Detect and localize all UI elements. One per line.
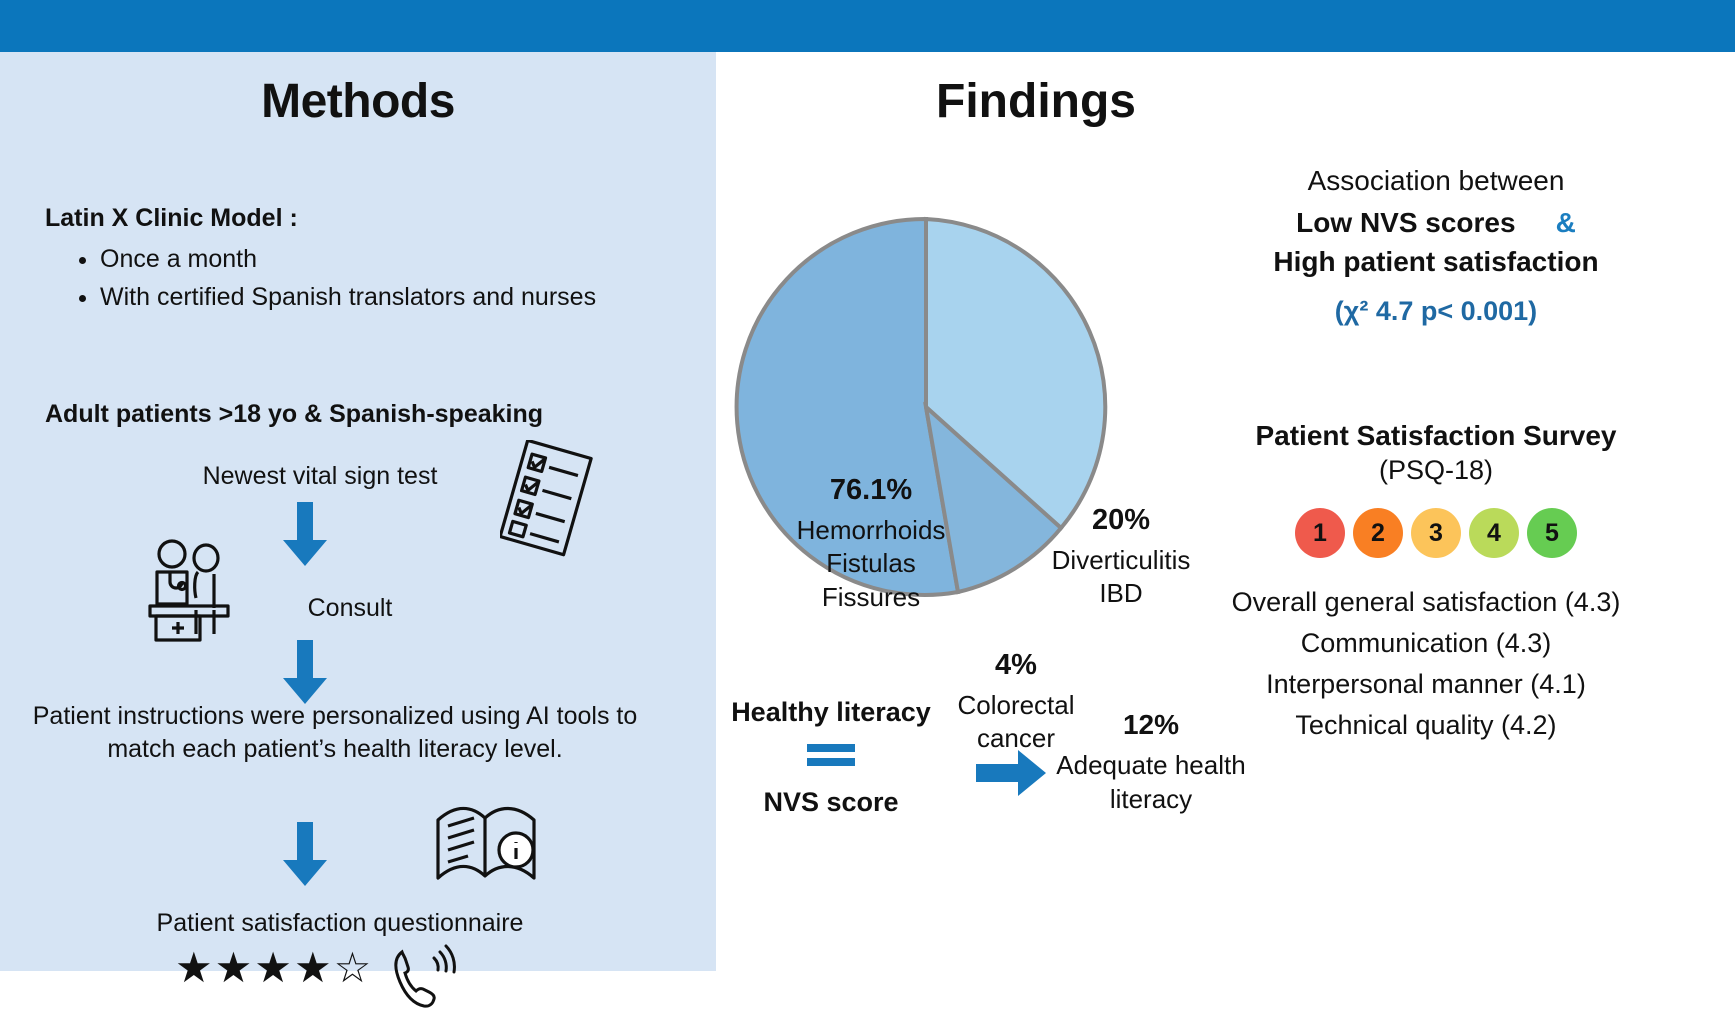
literacy-term-bottom: NVS score [676,787,986,818]
list-item: With certified Spanish translators and n… [100,280,700,316]
phone-call-icon [390,942,456,1017]
list-item: Overall general satisfaction (4.3) [1106,582,1735,623]
psq-rating-4[interactable]: 4 [1469,508,1519,558]
list-item: Technical quality (4.2) [1106,705,1735,746]
findings-panel: Findings 76.1% Hemorrhoids Fistulas Fiss… [716,52,1735,971]
list-item: Once a month [100,242,700,278]
association-line-2: Low NVS scores& [1136,204,1735,242]
list-item: Communication (4.3) [1106,623,1735,664]
association-low-nvs-text: Low NVS scores [1296,207,1515,238]
arrow-down-icon [282,502,328,573]
poster-root: Methods Latin X Clinic Model : Once a mo… [0,0,1735,971]
psq-rating-label: 1 [1313,519,1327,548]
psq-rating-scale: 1 2 3 4 5 [1136,508,1735,558]
clinic-model-bullets: Once a month With certified Spanish tran… [72,242,700,317]
pie-slice-name-line3: Fissures [726,581,1016,615]
eligibility-subheading: Adult patients >18 yo & Spanish-speaking [45,400,685,429]
psq-subtitle: (PSQ-18) [1136,455,1735,486]
pie-slice-label-hemorrhoids: 76.1% Hemorrhoids Fistulas Fissures [726,472,1016,615]
star-rating: ★★★★☆ [175,947,373,989]
flow-step-consult: Consult [250,592,450,625]
psq-rating-3[interactable]: 3 [1411,508,1461,558]
literacy-definition: Healthy literacy NVS score [676,697,986,818]
association-line-1: Association between [1136,162,1735,200]
psq-rating-label: 5 [1545,519,1559,548]
psq-rating-1[interactable]: 1 [1295,508,1345,558]
association-line-3: High patient satisfaction [1136,243,1735,281]
doctor-consult-icon [140,532,250,647]
methods-title: Methods [0,52,716,129]
pie-slice-value: 4% [896,647,1136,685]
psq-score-list: Overall general satisfaction (4.3) Commu… [1106,582,1735,746]
literacy-result-note: Adequate health literacy [1036,748,1266,817]
checklist-clipboard-icon [500,440,595,565]
methods-panel: Methods Latin X Clinic Model : Once a mo… [0,52,716,971]
psq-block: Patient Satisfaction Survey (PSQ-18) 1 2… [1136,420,1735,558]
findings-title: Findings [716,52,1356,129]
psq-rating-5[interactable]: 5 [1527,508,1577,558]
flow-step-satisfaction-questionnaire: Patient satisfaction questionnaire [60,907,620,940]
flow-step-personalized-instructions: Patient instructions were personalized u… [20,700,650,766]
psq-title: Patient Satisfaction Survey [1136,420,1735,452]
arrow-down-icon [282,822,328,893]
header-bar [0,0,1735,52]
association-block: Association between Low NVS scores& High… [1136,162,1735,329]
pie-slice-name-line2: Fistulas [726,547,1016,581]
literacy-term-top: Healthy literacy [676,697,986,728]
pie-slice-value: 76.1% [726,472,1016,510]
psq-rating-label: 2 [1371,519,1385,548]
equals-icon [805,742,857,773]
clinic-model-label: Latin X Clinic Model : [45,204,298,233]
pie-slice-name-line1: Hemorrhoids [726,514,1016,548]
ampersand-symbol: & [1556,207,1576,238]
flow-step-nvs-test: Newest vital sign test [170,460,470,493]
chi-square-statistic: (χ² 4.7 p< 0.001) [1136,293,1735,329]
psq-rating-label: 4 [1487,519,1501,548]
list-item: Interpersonal manner (4.1) [1106,664,1735,705]
psq-rating-label: 3 [1429,519,1443,548]
psq-rating-2[interactable]: 2 [1353,508,1403,558]
open-book-info-icon [430,792,545,902]
